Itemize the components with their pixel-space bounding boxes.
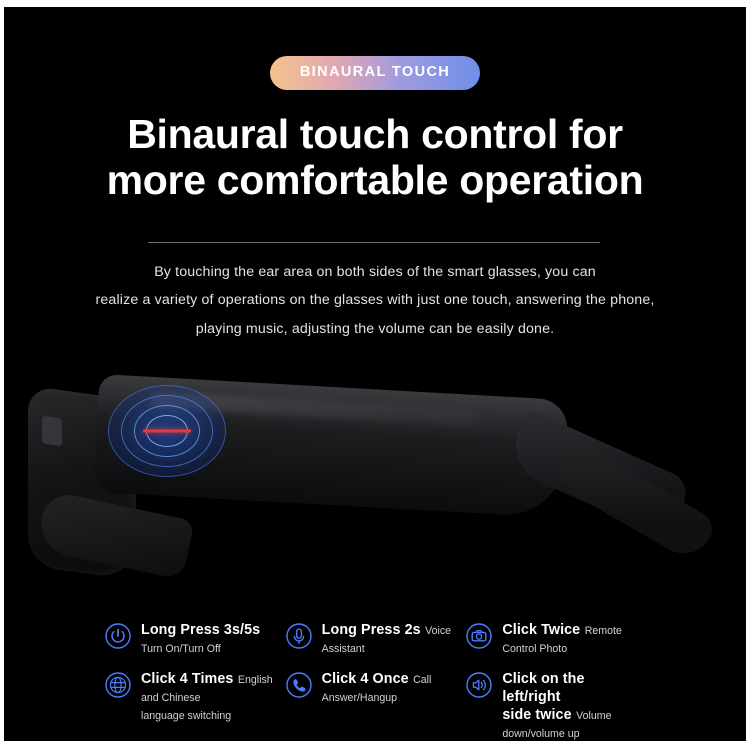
feature-title: Long Press 3s/5s [141, 622, 260, 638]
page-title-line-2: more comfortable operation [0, 158, 750, 204]
binaural-touch-badge: BINAURAL TOUCH [270, 56, 480, 90]
volume-icon [465, 671, 493, 699]
description-line-2: realize a variety of operations on the g… [0, 286, 750, 314]
feature-item-call: Click 4 Once Call Answer/Hangup [285, 669, 466, 742]
feature-item-language: Click 4 Times English and Chinese langua… [104, 669, 285, 742]
microphone-icon [285, 622, 313, 650]
badge-container: BINAURAL TOUCH [0, 56, 750, 90]
page-title: Binaural touch control for more comforta… [0, 112, 750, 204]
feature-title: Long Press 2s [322, 622, 421, 638]
horizontal-divider [148, 242, 600, 243]
feature-item-voice: Long Press 2s Voice Assistant [285, 620, 466, 669]
feature-title: Click on the left/right side twice [502, 671, 584, 723]
feature-title: Click 4 Once [322, 671, 409, 687]
feature-title: Click 4 Times [141, 671, 233, 687]
phone-icon [285, 671, 313, 699]
feature-list: Long Press 3s/5s Turn On/Turn Off Long P… [0, 620, 750, 742]
description-line-3: playing music, adjusting the volume can … [0, 315, 750, 343]
touch-ripple-graphic [108, 385, 226, 477]
camera-icon [465, 622, 493, 650]
touch-sensor-bar [143, 430, 191, 433]
feature-item-volume: Click on the left/right side twice Volum… [465, 669, 646, 742]
description-paragraph: By touching the ear area on both sides o… [0, 258, 750, 343]
power-icon [104, 622, 132, 650]
bottom-white-strip [0, 741, 750, 750]
feature-item-power: Long Press 3s/5s Turn On/Turn Off [104, 620, 285, 669]
glasses-hinge-detail [42, 416, 62, 447]
feature-item-camera: Click Twice Remote Control Photo [465, 620, 646, 669]
feature-subtitle: Turn On/Turn Off [141, 643, 221, 655]
smart-glasses-illustration [0, 355, 750, 610]
feature-title: Click Twice [502, 622, 580, 638]
product-image-area [0, 355, 750, 610]
page-title-line-1: Binaural touch control for [0, 112, 750, 158]
globe-icon [104, 671, 132, 699]
promo-page: BINAURAL TOUCH Binaural touch control fo… [0, 0, 750, 750]
top-white-strip [0, 0, 750, 7]
description-line-1: By touching the ear area on both sides o… [0, 258, 750, 286]
